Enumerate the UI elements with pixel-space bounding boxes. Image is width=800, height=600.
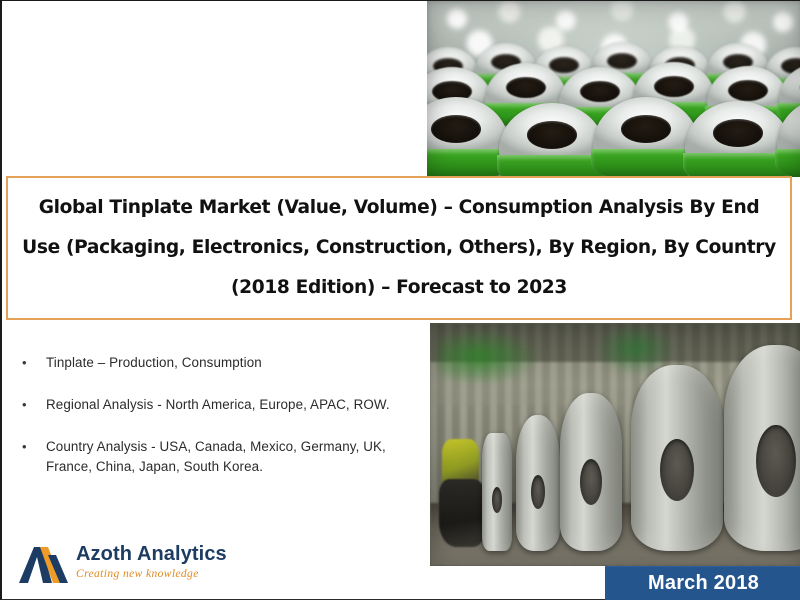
brand-name: Azoth Analytics bbox=[76, 543, 227, 566]
bullet-dot-icon: • bbox=[18, 395, 46, 415]
steel-coil bbox=[631, 365, 723, 551]
list-item: • Regional Analysis - North America, Eur… bbox=[18, 395, 418, 415]
highlight-text: Tinplate – Production, Consumption bbox=[46, 353, 262, 373]
report-title-box: Global Tinplate Market (Value, Volume) –… bbox=[6, 176, 792, 320]
highlight-text: Country Analysis - USA, Canada, Mexico, … bbox=[46, 437, 418, 477]
steel-coil bbox=[560, 393, 622, 551]
steel-coil bbox=[724, 345, 800, 551]
brand-logo: Azoth Analytics Creating new knowledge bbox=[18, 543, 278, 591]
report-date-badge: March 2018 bbox=[605, 566, 800, 600]
report-date-label: March 2018 bbox=[648, 572, 759, 595]
green-aluminium-cans-photo bbox=[427, 1, 800, 177]
list-item: • Tinplate – Production, Consumption bbox=[18, 353, 418, 373]
tinplate-steel-coils-photo bbox=[430, 323, 800, 566]
highlight-text: Regional Analysis - North America, Europ… bbox=[46, 395, 390, 415]
steel-coil bbox=[482, 433, 512, 551]
steel-coil bbox=[516, 415, 560, 551]
worker-body bbox=[439, 479, 487, 547]
report-highlights-list: • Tinplate – Production, Consumption • R… bbox=[18, 353, 418, 499]
bullet-dot-icon: • bbox=[18, 437, 46, 457]
list-item: • Country Analysis - USA, Canada, Mexico… bbox=[18, 437, 418, 477]
page-title: Global Tinplate Market (Value, Volume) –… bbox=[22, 188, 776, 308]
brand-tagline: Creating new knowledge bbox=[76, 567, 227, 581]
bullet-dot-icon: • bbox=[18, 353, 46, 373]
azoth-a-mark-icon bbox=[18, 545, 70, 585]
report-cover-page: Global Tinplate Market (Value, Volume) –… bbox=[0, 0, 800, 600]
brand-logo-text: Azoth Analytics Creating new knowledge bbox=[76, 543, 227, 581]
factory-green-machinery bbox=[437, 328, 541, 386]
